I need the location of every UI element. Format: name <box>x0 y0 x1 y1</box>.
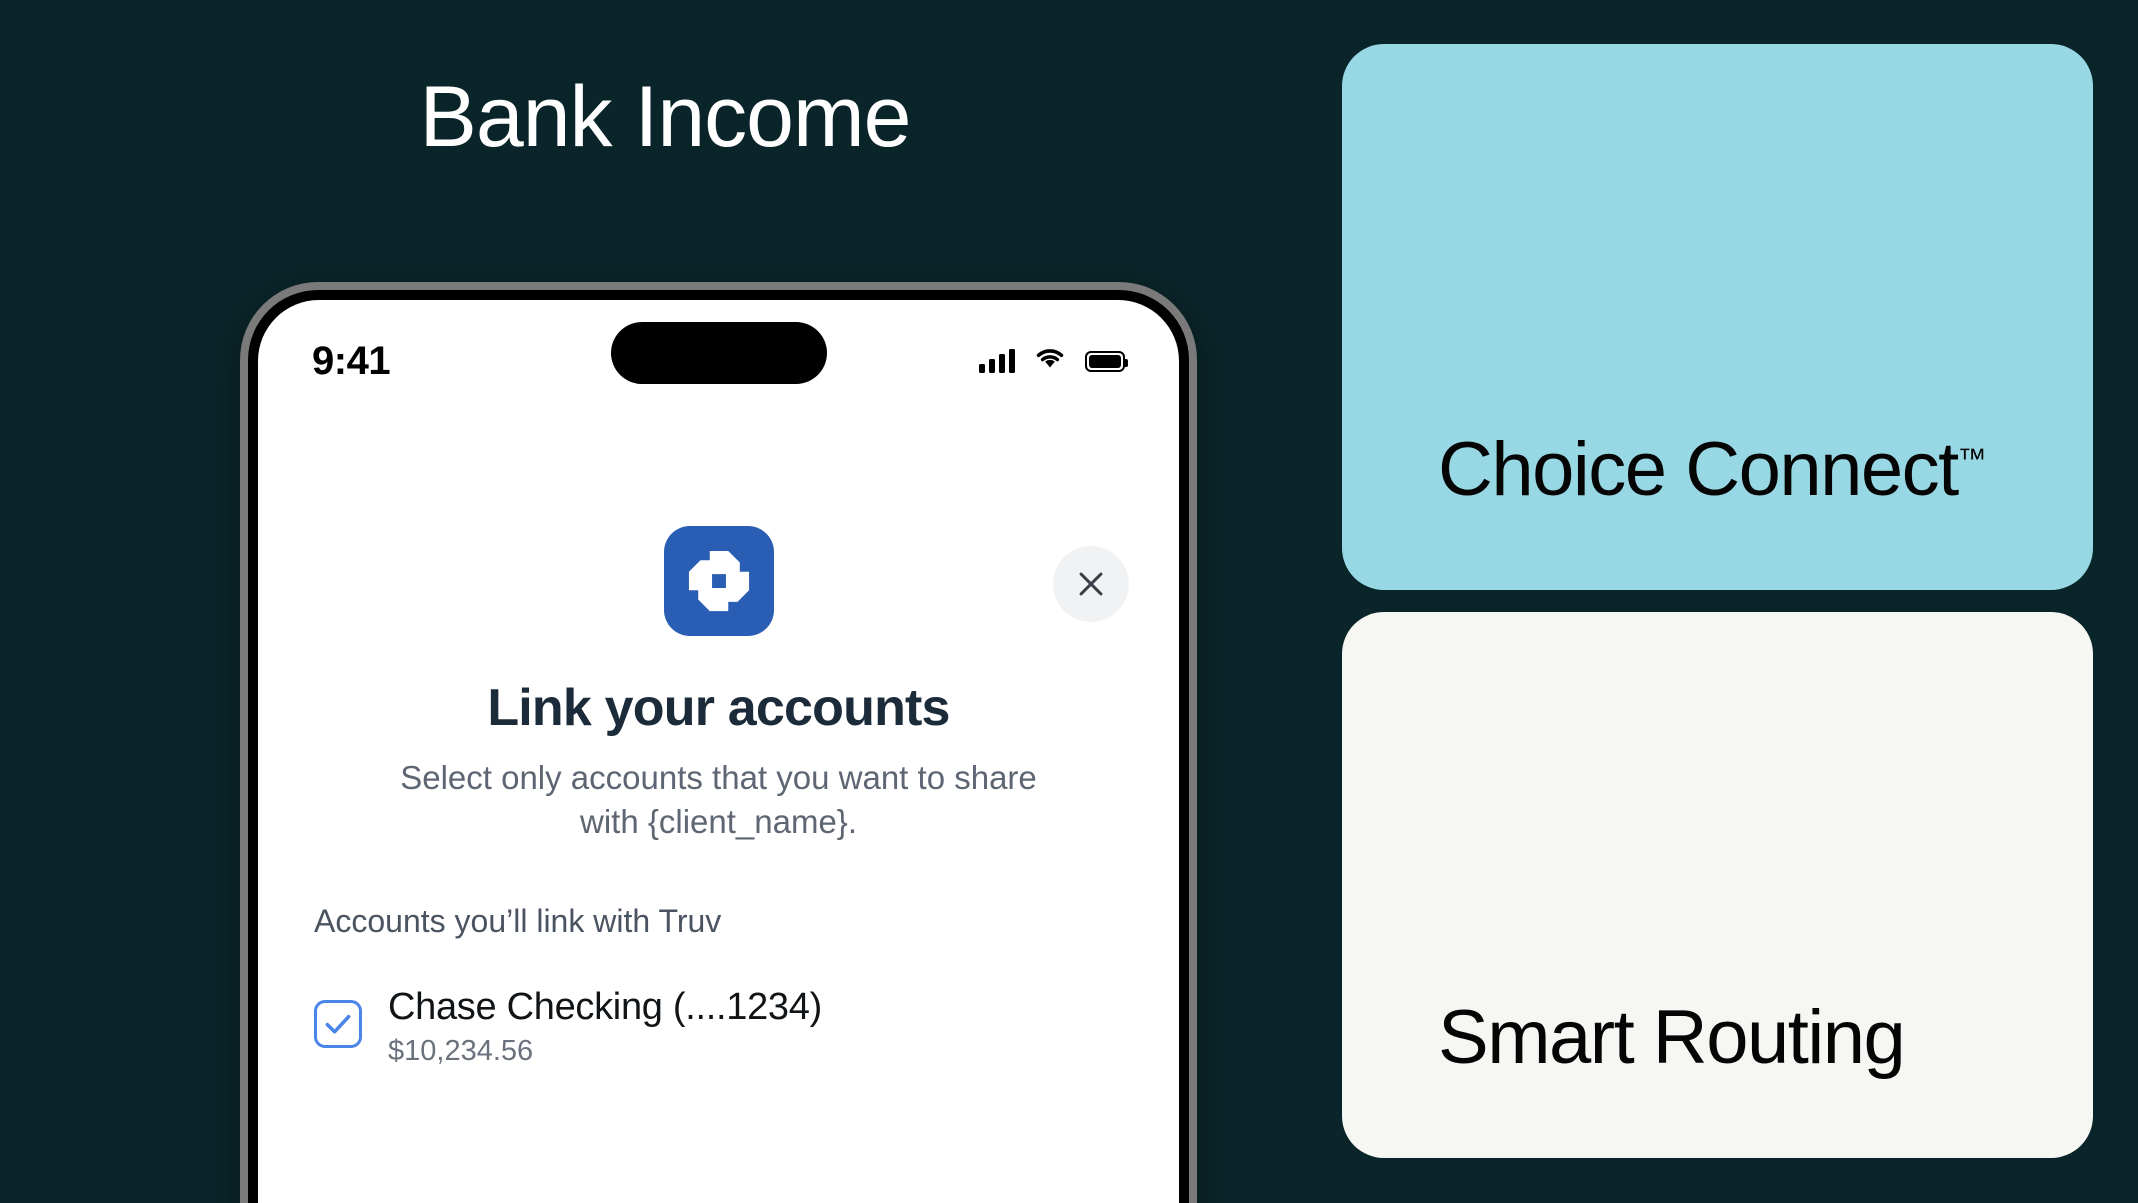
page-title: Bank Income <box>0 72 1330 162</box>
list-item[interactable]: Chase Checking (....1234) $10,234.56 <box>314 986 1123 1068</box>
left-panel: Bank Income 9:41 <box>0 0 1330 1203</box>
account-balance: $10,234.56 <box>388 1035 822 1068</box>
battery-icon <box>1085 351 1125 372</box>
sheet-heading: Link your accounts <box>314 678 1123 738</box>
phone-bezel: 9:41 <box>248 290 1189 1203</box>
checkmark-icon[interactable] <box>314 1000 362 1048</box>
feature-card-title: Smart Routing <box>1438 995 1997 1080</box>
wifi-icon <box>1034 347 1066 376</box>
accounts-list: Chase Checking (....1234) $10,234.56 <box>314 986 1123 1068</box>
account-details: Chase Checking (....1234) $10,234.56 <box>388 986 822 1068</box>
phone-screen: 9:41 <box>258 300 1179 1203</box>
signal-bars-icon <box>979 349 1016 373</box>
status-bar: 9:41 <box>258 300 1179 404</box>
feature-card-title: Choice Connect™ <box>1438 427 1997 512</box>
status-icons <box>979 347 1126 376</box>
dynamic-island <box>611 322 827 384</box>
feature-cards-column: Choice Connect™ Smart Routing <box>1342 44 2093 1158</box>
accounts-section-label: Accounts you’ll link with Truv <box>314 903 1123 940</box>
feature-card-title-text: Smart Routing <box>1438 995 1904 1080</box>
chase-logo-icon <box>664 526 774 636</box>
phone-mockup: 9:41 <box>240 282 1197 1203</box>
feature-card-title-text: Choice Connect <box>1438 427 1958 512</box>
feature-card-choice-connect[interactable]: Choice Connect™ <box>1342 44 2093 590</box>
feature-card-smart-routing[interactable]: Smart Routing <box>1342 612 2093 1158</box>
trademark-symbol: ™ <box>1958 444 1987 476</box>
account-name: Chase Checking (....1234) <box>388 986 822 1029</box>
close-icon[interactable] <box>1053 546 1129 622</box>
status-time: 9:41 <box>312 339 390 384</box>
link-accounts-sheet: Link your accounts Select only accounts … <box>258 526 1179 1068</box>
sheet-subtitle: Select only accounts that you want to sh… <box>369 756 1069 843</box>
